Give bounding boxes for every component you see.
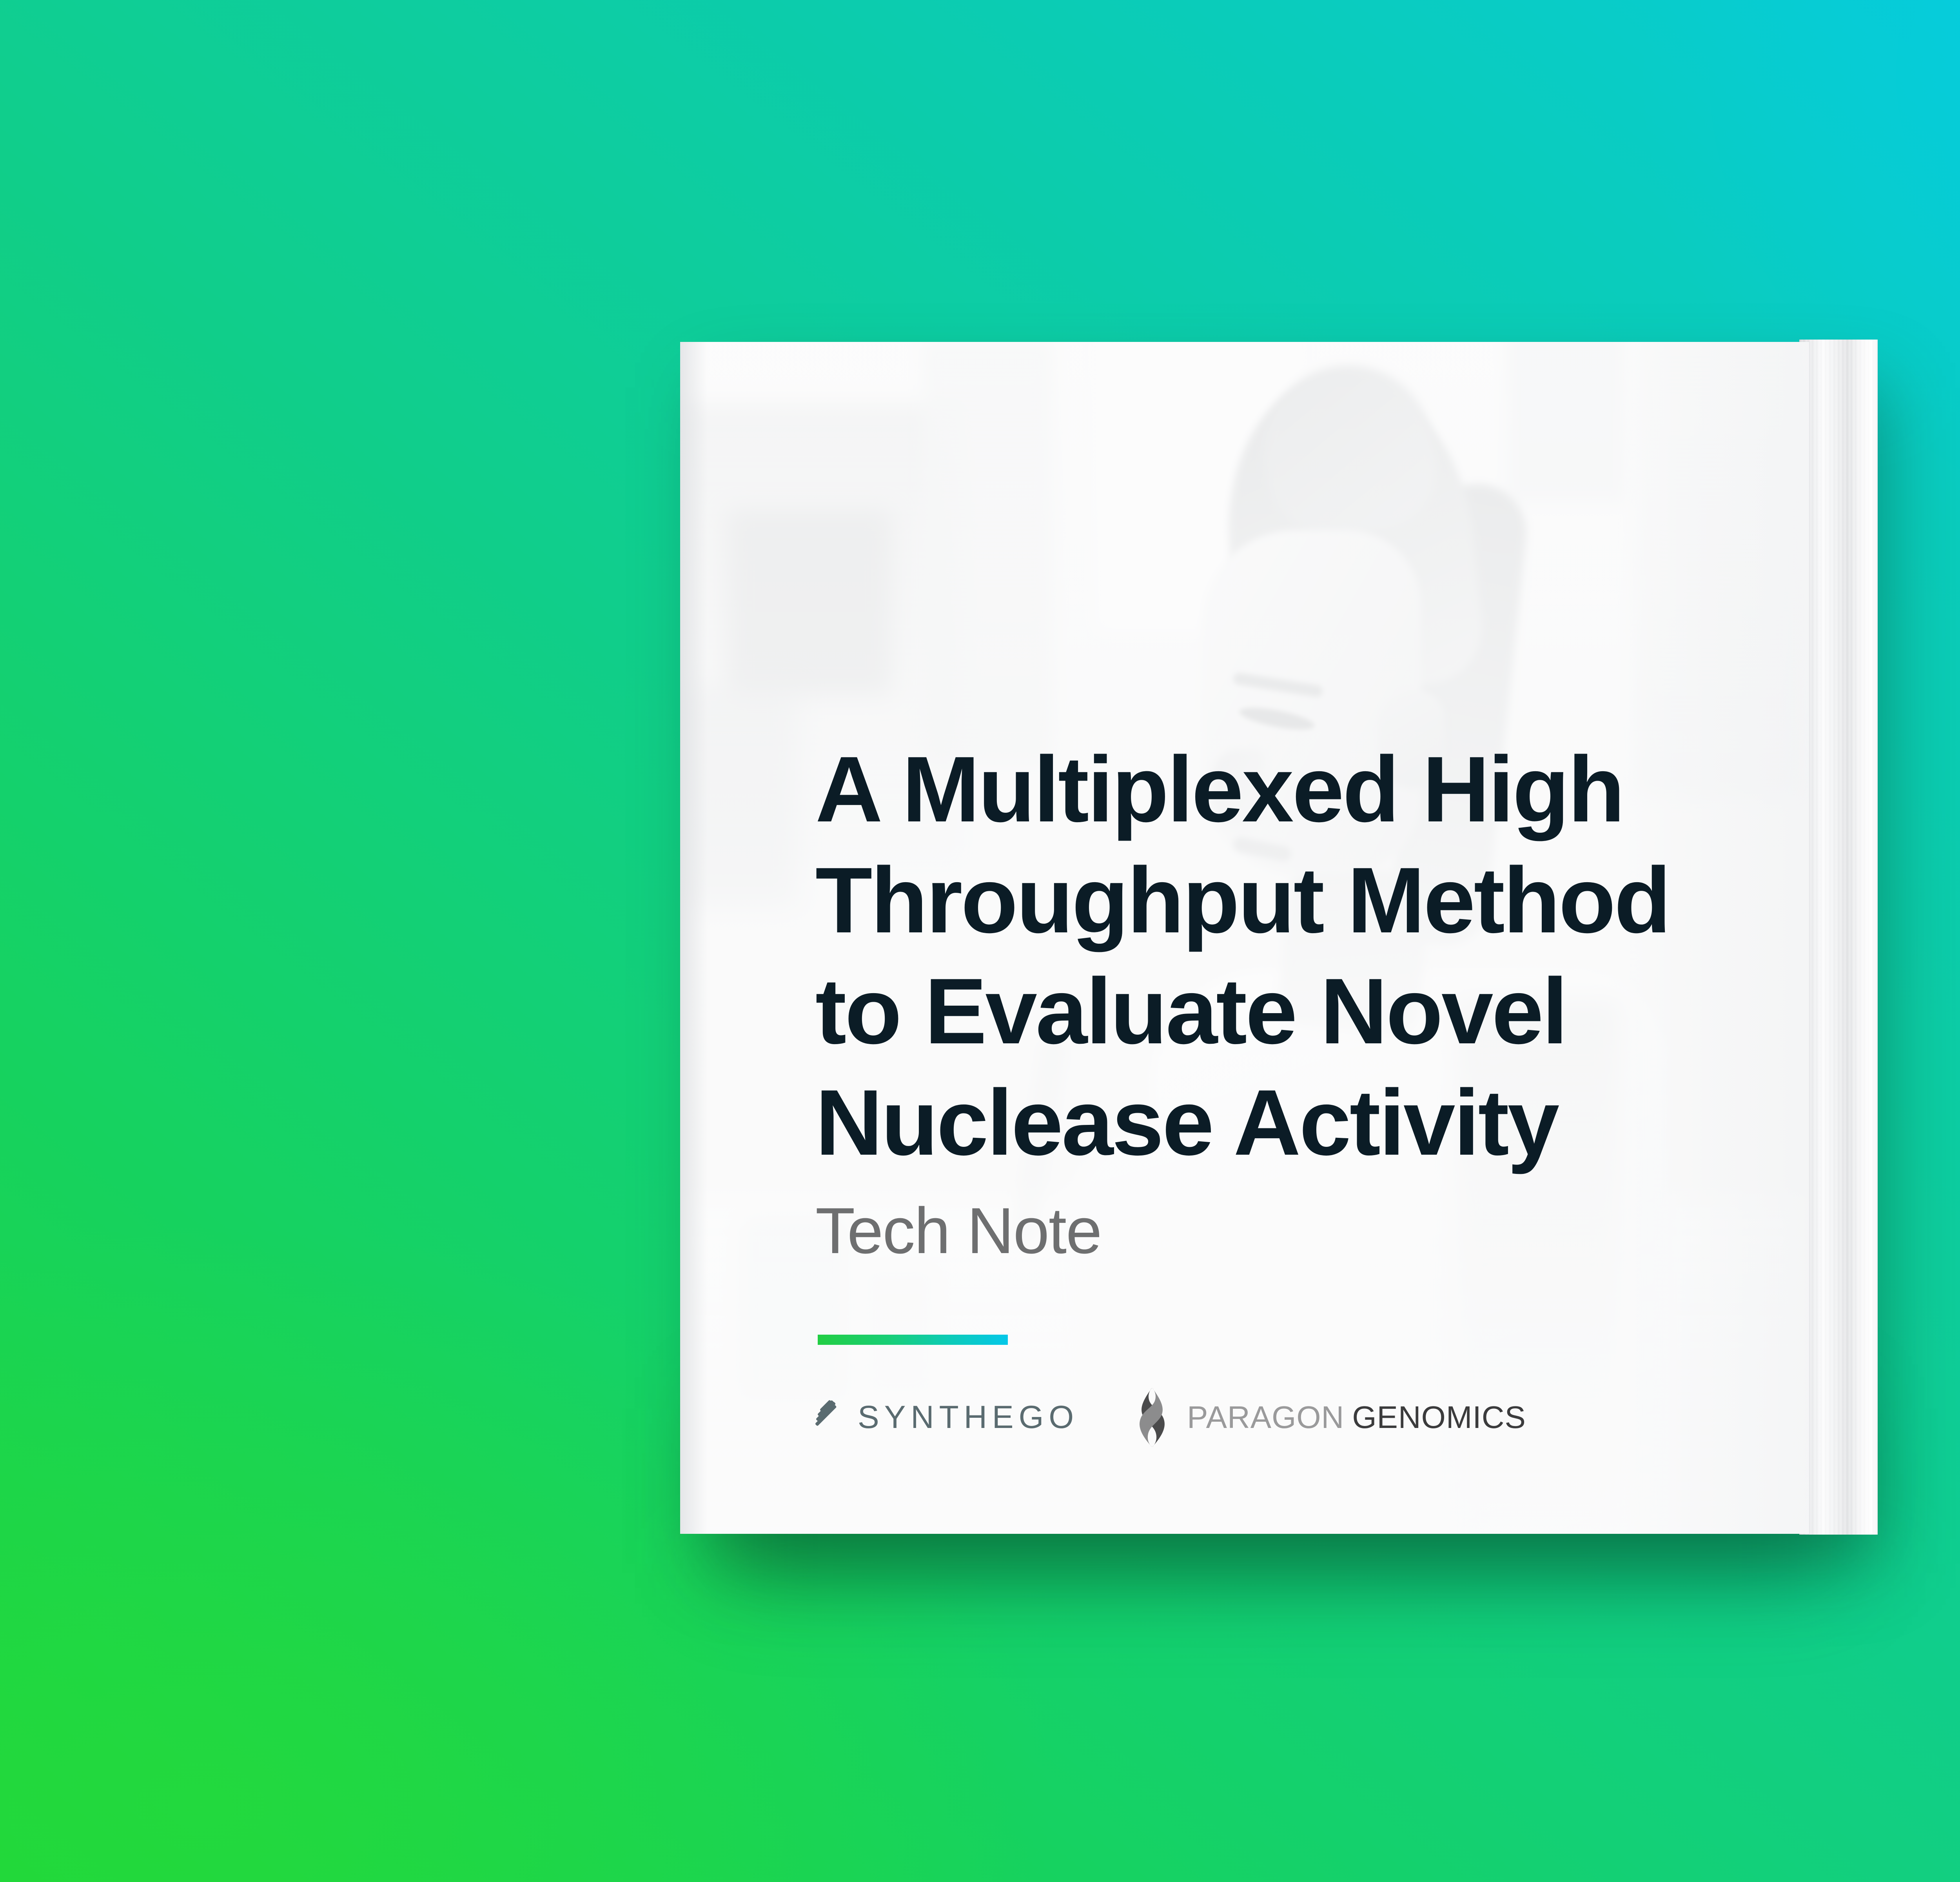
book-cover: A Multiplexed High Throughput Method to … bbox=[680, 342, 1809, 1534]
cover-content: A Multiplexed High Throughput Method to … bbox=[815, 342, 1697, 1534]
cover-subtitle: Tech Note bbox=[815, 1199, 1101, 1264]
slashes-icon bbox=[815, 1402, 846, 1433]
synthego-wordmark: SYNTHEGO bbox=[858, 1401, 1079, 1433]
book-mockup: A Multiplexed High Throughput Method to … bbox=[680, 342, 1874, 1536]
synthego-logo: SYNTHEGO bbox=[815, 1401, 1079, 1433]
paragon-word-primary: PARAGON bbox=[1187, 1402, 1344, 1433]
cover-title: A Multiplexed High Throughput Method to … bbox=[815, 734, 1709, 1178]
paragon-word-secondary: GENOMICS bbox=[1352, 1402, 1526, 1433]
accent-divider bbox=[818, 1335, 1008, 1345]
paragon-genomics-wordmark: PARAGON GENOMICS bbox=[1187, 1402, 1526, 1433]
book-page-block bbox=[1799, 340, 1878, 1535]
helix-icon bbox=[1129, 1387, 1175, 1448]
logo-row: SYNTHEGO PARAGON GENOMICS bbox=[815, 1387, 1526, 1448]
paragon-genomics-logo: PARAGON GENOMICS bbox=[1129, 1387, 1526, 1448]
